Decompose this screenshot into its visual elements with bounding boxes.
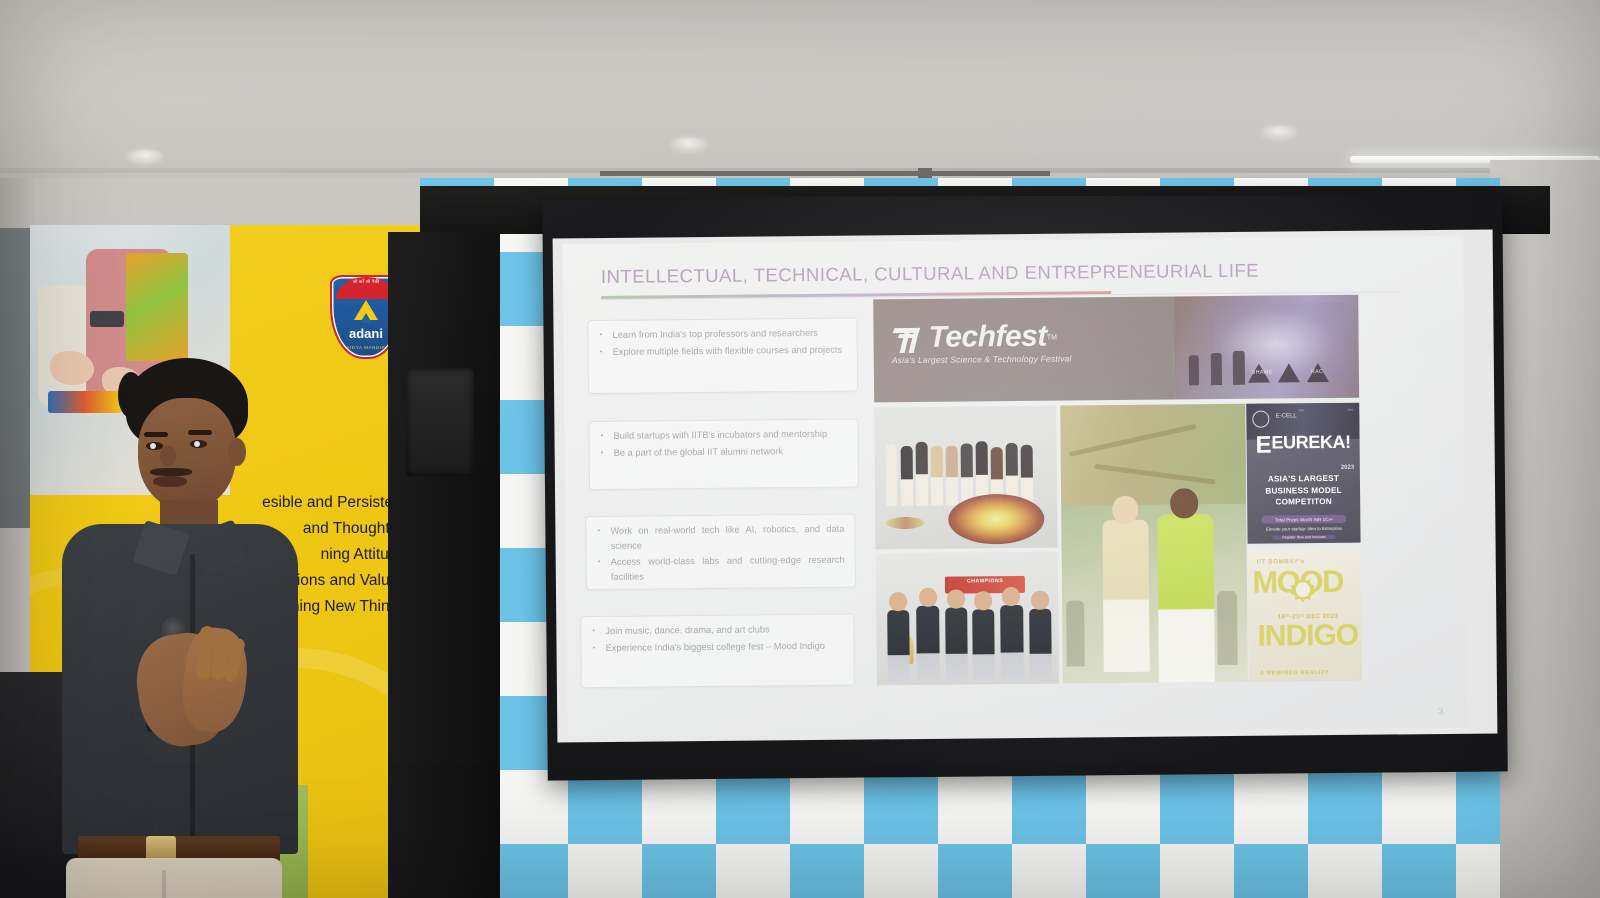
backdrop-cell-white xyxy=(864,844,938,898)
backdrop-cell-blue xyxy=(1160,770,1234,844)
backdrop-cell-blue xyxy=(864,770,938,844)
recessed-downlight xyxy=(128,150,162,163)
stage-label: SHAME xyxy=(1252,370,1273,376)
backdrop-cell-white xyxy=(494,770,568,844)
person-in-kurta xyxy=(1102,520,1149,672)
photo-collage: TechfestTM Asia's Largest Science & Tech… xyxy=(873,295,1362,698)
ceiling xyxy=(0,0,1600,178)
recessed-downlight xyxy=(1262,126,1296,139)
backdrop-cell-blue xyxy=(790,844,864,898)
face xyxy=(138,398,236,510)
palm-canopy xyxy=(1060,404,1248,506)
ceiling-track xyxy=(600,171,1050,176)
culture-card: Join music, dance, drama, and art clubs … xyxy=(580,614,855,689)
bullet-item: Join music, dance, drama, and art clubs xyxy=(589,622,843,639)
trousers xyxy=(66,858,282,898)
bullet-item: Learn from India's top professors and re… xyxy=(596,326,846,343)
bullet-item: Work on real-world tech like AI, robotic… xyxy=(594,522,844,553)
backdrop-cell-white xyxy=(716,844,790,898)
poster-badge xyxy=(1298,409,1304,411)
techfest-logo-photo: TechfestTM Asia's Largest Science & Tech… xyxy=(873,296,1174,402)
techfest-wordmark: Techfest xyxy=(928,320,1047,354)
backdrop-cell-blue xyxy=(1308,770,1382,844)
eye xyxy=(190,440,207,448)
eureka-headline: ASIA'S LARGEST BUSINESS MODEL COMPETITON xyxy=(1251,473,1355,508)
techfest-tm: TM xyxy=(1047,334,1057,341)
techfest-tagline: Asia's Largest Science & Technology Fest… xyxy=(892,353,1072,365)
screen-frame-left-column xyxy=(388,232,500,898)
backdrop-cell-white xyxy=(1234,770,1308,844)
backdrop-cell-blue xyxy=(938,844,1012,898)
eureka-register-button: Register Now and Innovate xyxy=(1272,535,1335,540)
eyebrow xyxy=(144,432,168,437)
backdrop-cell-blue xyxy=(1382,844,1456,898)
stage-label: RAC xyxy=(1311,369,1324,375)
champions-banner-text: CHAMPIONS xyxy=(945,578,1025,585)
indigo-wordmark: INDIGO xyxy=(1257,620,1357,651)
techfest-mark-icon xyxy=(891,324,923,354)
eureka-year: 2023 xyxy=(1341,464,1354,470)
techfest-logo: TechfestTM xyxy=(891,320,1057,356)
backdrop-cell-white xyxy=(1308,844,1382,898)
slide-title: INTELLECTUAL, TECHNICAL, CULTURAL AND EN… xyxy=(601,258,1433,288)
eureka-subtext: Elevate your startup: Idea to Enterprise xyxy=(1252,526,1356,532)
stage-performance-photo: SHAME RAC xyxy=(1173,295,1359,400)
backdrop-cell-blue xyxy=(568,770,642,844)
mouth xyxy=(153,476,187,487)
backdrop-cell-white xyxy=(1456,844,1500,898)
bullet-item: Explore multiple fields with flexible co… xyxy=(597,342,847,359)
sports-team-champions-photo: CHAMPIONS xyxy=(876,552,1059,686)
recessed-downlight xyxy=(672,138,706,151)
pookalam-small xyxy=(886,517,924,529)
backdrop-cell-white xyxy=(790,770,864,844)
eureka-wordmark: EUREKA! xyxy=(1271,432,1350,454)
eureka-business-model-competition-poster: E-CELL EEUREKA! 2023 ASIA'S LARGEST BUSI… xyxy=(1246,403,1360,544)
backdrop-cell-blue xyxy=(1086,844,1160,898)
pookalam-floral-rangoli xyxy=(948,493,1044,544)
backdrop-cell-blue xyxy=(494,844,568,898)
ear xyxy=(228,438,246,466)
right-wall xyxy=(1490,160,1600,898)
eureka-e-glyph: E xyxy=(1255,435,1271,457)
outdoor-traditional-attire-photo xyxy=(1060,404,1248,684)
backdrop-cell-blue xyxy=(1234,844,1308,898)
backdrop-cell-blue xyxy=(642,844,716,898)
nose xyxy=(160,446,176,466)
academics-card: Learn from India's top professors and re… xyxy=(587,318,858,395)
backdrop-cell-white xyxy=(938,770,1012,844)
slide-page-number: 3 xyxy=(1438,706,1443,716)
group-row xyxy=(882,437,1050,507)
eyebrow xyxy=(188,430,212,435)
bullet-item: Access world-class labs and cutting-edge… xyxy=(595,553,845,584)
poster-badge xyxy=(1348,408,1354,410)
backdrop-cell-white xyxy=(642,770,716,844)
backdrop-cell-blue xyxy=(1012,770,1086,844)
arm xyxy=(62,590,154,840)
presenter-with-microphone xyxy=(20,358,290,898)
research-card: Work on real-world tech like AI, robotic… xyxy=(585,514,856,591)
bullet-item: Experience India's biggest college fest … xyxy=(589,638,843,655)
photo-scene: जो करें सो नेकी adani VIDYA MANDIR esibl… xyxy=(0,0,1600,898)
wall-speaker xyxy=(406,368,474,476)
backdrop-cell-white xyxy=(1086,770,1160,844)
backdrop-cell-blue xyxy=(1456,770,1500,844)
mood-indigo-tagline: A REWIRED REALITY xyxy=(1260,670,1329,677)
backdrop-cell-blue xyxy=(716,770,790,844)
eureka-prize-text: Total Prizes Worth INR 1Cr+ xyxy=(1261,515,1347,524)
mood-indigo-poster: IIT BOMBAY's MOOD 18ᵗʰ-21ˢᵗ DEC 2023 IND… xyxy=(1248,547,1362,682)
backdrop-cell-white xyxy=(1160,844,1234,898)
bullet-item: Build startups with IITB's incubators an… xyxy=(597,427,847,444)
entrepreneurship-card: Build startups with IITB's incubators an… xyxy=(588,419,859,491)
backdrop-cell-white xyxy=(1012,844,1086,898)
person-in-green-shirt xyxy=(1157,514,1215,683)
presentation-slide: INTELLECTUAL, TECHNICAL, CULTURAL AND EN… xyxy=(563,236,1468,737)
eureka-logo: EEUREKA! xyxy=(1251,432,1355,457)
onam-group-photo-with-pookalam xyxy=(874,406,1057,550)
trouser-seam xyxy=(162,870,166,898)
bullet-item: Be a part of the global IIT alumni netwo… xyxy=(598,443,848,460)
ecell-logo: E-CELL xyxy=(1276,413,1297,420)
moustache xyxy=(150,468,192,476)
iit-bombay-seal-icon xyxy=(1252,411,1269,428)
backdrop-cell-white xyxy=(568,844,642,898)
backdrop-cell-white xyxy=(1382,770,1456,844)
